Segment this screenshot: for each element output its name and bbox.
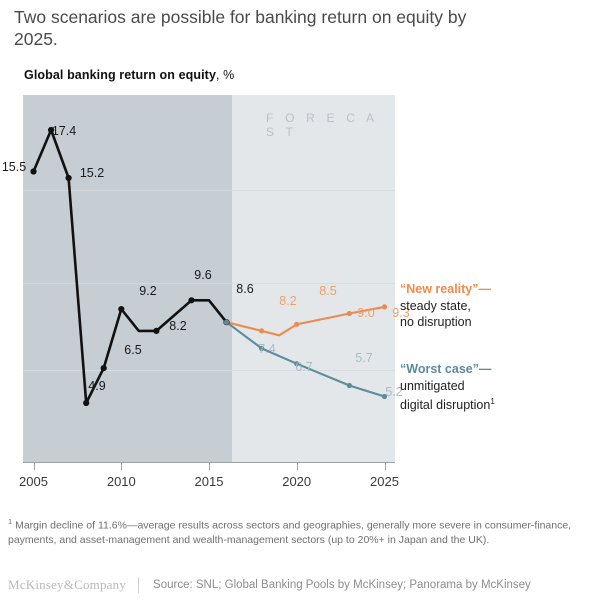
x-axis-tick [121,462,122,470]
chart-title: Global banking return on equity, % [24,68,234,82]
x-axis-label: 2025 [370,474,399,489]
x-axis-tick [385,462,386,470]
value-label: 7.4 [258,342,275,356]
data-point [259,328,264,333]
source-note: Source: SNL; Global Banking Pools by McK… [153,579,531,591]
footnote: 1 Margin decline of 11.6%—average result… [8,515,592,547]
value-label: 9.0 [357,306,374,320]
data-point [83,400,89,406]
value-label: 5.7 [355,351,372,365]
value-label: 8.5 [319,284,336,298]
value-label: 4.9 [88,379,105,393]
value-label: 8.6 [236,282,253,296]
chart-title-text: Global banking return on equity [24,68,216,82]
value-label: 15.5 [2,160,26,174]
x-axis-label: 2005 [19,474,48,489]
data-point [347,311,352,316]
x-axis-label: 2010 [107,474,136,489]
legend-worst-case-head: “Worst case”— [400,361,495,378]
data-point [30,168,36,174]
legend-new-reality: “New reality”— steady state, no disrupti… [400,281,491,331]
x-axis-tick [34,462,35,470]
chart-title-unit: , % [216,68,234,82]
value-label: 6.5 [124,343,141,357]
legend-footnote-marker: 1 [490,397,494,406]
chart-plot-area: F O R E C A S T 15.517.415.24.96.59.28.2… [23,95,395,462]
legend-worst-case: “Worst case”— unmitigated digital disrup… [400,361,495,414]
legend-new-reality-head: “New reality”— [400,281,491,298]
value-label: 6.7 [295,360,312,374]
data-point [294,322,299,327]
data-point [118,306,124,312]
value-label: 9.6 [194,268,211,282]
page-headline: Two scenarios are possible for banking r… [14,6,484,50]
value-label: 17.4 [52,124,76,138]
data-point [382,304,387,309]
mckinsey-logo: McKinsey&Company [8,577,126,593]
value-label: 15.2 [80,166,104,180]
data-point [153,328,159,334]
data-point [224,320,229,325]
value-label: 9.2 [139,284,156,298]
value-label: 8.2 [169,319,186,333]
value-label: 8.2 [279,294,296,308]
data-point [101,365,107,371]
x-axis-label: 2015 [195,474,224,489]
historical-line [34,130,227,403]
footnote-marker: 1 [8,517,12,526]
x-axis-tick [297,462,298,470]
legend-worst-case-line2: digital disruption1 [400,394,495,414]
page-footer: McKinsey&Company Source: SNL; Global Ban… [8,575,592,595]
legend-worst-case-line1: unmitigated [400,378,495,395]
footnote-text: Margin decline of 11.6%—average results … [8,520,571,546]
legend-worst-case-line2-text: digital disruption [400,398,490,412]
footer-divider [138,577,139,593]
legend-new-reality-line1: steady state, [400,298,491,315]
data-point [347,383,352,388]
x-axis-label: 2020 [282,474,311,489]
data-point [188,297,194,303]
legend-new-reality-line2: no disruption [400,314,491,331]
x-axis-tick [209,462,210,470]
data-point [66,175,72,181]
